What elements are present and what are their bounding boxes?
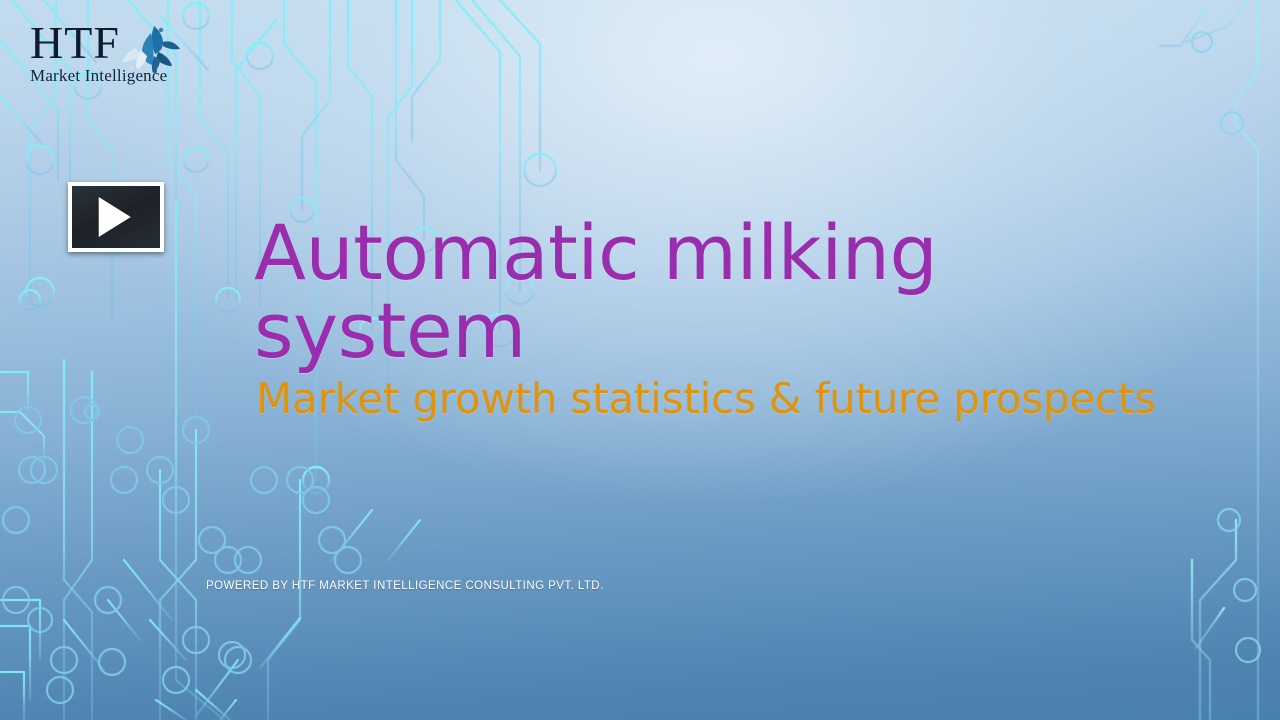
video-placeholder[interactable]	[68, 182, 164, 252]
slide-subtitle: Market growth statistics & future prospe…	[256, 377, 1194, 421]
video-frame	[72, 186, 160, 248]
presentation-slide: HTF Market Intelligence Automatic milkin…	[0, 0, 1280, 720]
dolphin-logo-icon	[118, 24, 184, 78]
slide-title: Automatic milking system	[254, 214, 1194, 369]
play-triangle-icon[interactable]	[99, 197, 131, 237]
logo-wordmark: HTF	[30, 20, 120, 66]
slide-footer: POWERED BY HTF MARKET INTELLIGENCE CONSU…	[206, 580, 604, 592]
title-block: Automatic milking system Market growth s…	[254, 214, 1194, 421]
htf-logo[interactable]: HTF Market Intelligence	[22, 22, 192, 94]
